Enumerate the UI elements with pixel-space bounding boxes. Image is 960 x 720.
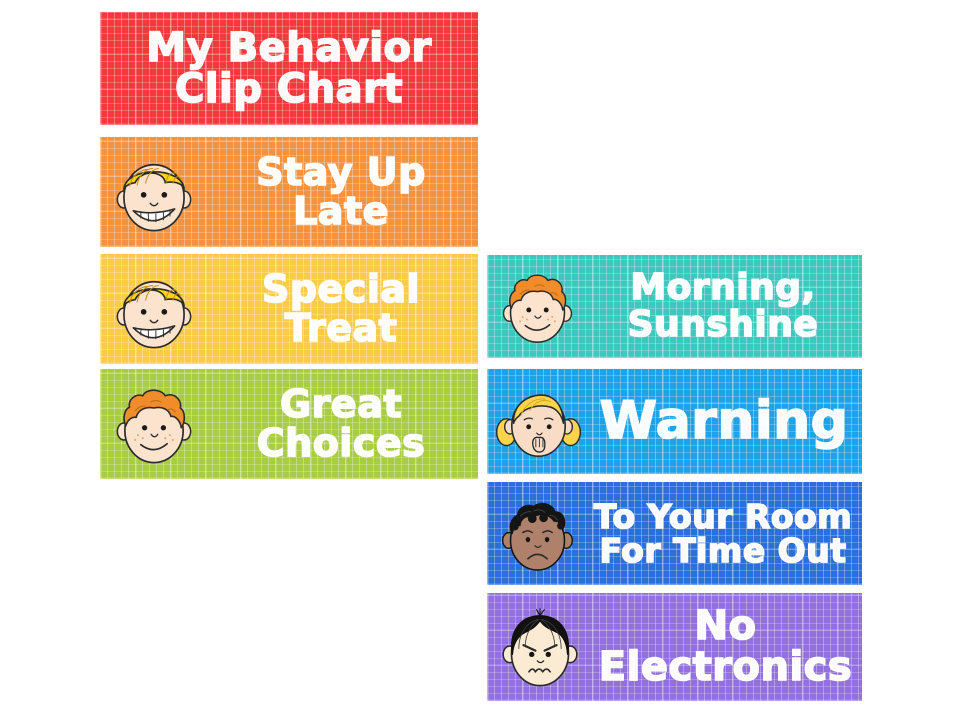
special-treat-card-label: SpecialTreat [204, 270, 478, 348]
time-out-card[interactable]: To Your RoomFor Time Out [487, 482, 862, 585]
dark-haired-boy-sad-face [491, 490, 584, 577]
special-treat-card-line-2: Treat [285, 309, 398, 348]
behavior-clip-chart: My BehaviorClip Chart Stay UpLate Specia… [0, 0, 960, 720]
great-choices-card-label: GreatChoices [204, 385, 478, 463]
stay-up-late-card-label: Stay UpLate [204, 153, 478, 231]
morning-sunshine-card-line-1: Morning, [630, 270, 815, 307]
no-electronics-card[interactable]: NoElectronics [487, 593, 862, 701]
warning-card[interactable]: Warning [487, 369, 862, 474]
morning-sunshine-card[interactable]: Morning,Sunshine [487, 255, 862, 358]
warning-card-line-1: Warning [600, 395, 849, 448]
title-card-line-1: My Behavior [146, 28, 431, 69]
special-treat-card[interactable]: SpecialTreat [100, 254, 478, 364]
blonde-boy-grinning-face [104, 145, 204, 239]
great-choices-card-line-1: Great [280, 385, 402, 424]
morning-sunshine-card-line-2: Sunshine [628, 307, 819, 344]
no-electronics-card-line-2: Electronics [599, 647, 852, 688]
title-card-line-2: Clip Chart [175, 69, 403, 110]
stay-up-late-card-line-2: Late [293, 192, 389, 231]
black-haired-child-angry-face [491, 601, 589, 693]
great-choices-card-line-2: Choices [257, 424, 426, 463]
no-electronics-card-line-1: No [695, 606, 757, 647]
no-electronics-card-label: NoElectronics [589, 606, 862, 688]
blonde-boy-grinning-face [104, 262, 204, 356]
warning-card-label: Warning [586, 395, 862, 448]
stay-up-late-card-line-1: Stay Up [256, 153, 426, 192]
special-treat-card-line-1: Special [262, 270, 420, 309]
time-out-card-label: To Your RoomFor Time Out [584, 500, 862, 567]
title-card[interactable]: My BehaviorClip Chart [100, 12, 478, 125]
stay-up-late-card[interactable]: Stay UpLate [100, 137, 478, 247]
morning-sunshine-card-label: Morning,Sunshine [584, 270, 862, 343]
time-out-card-line-1: To Your Room [594, 500, 852, 534]
time-out-card-line-2: For Time Out [599, 534, 846, 568]
redhead-boy-smiling-face [491, 263, 584, 350]
redhead-boy-smiling-face [104, 377, 204, 471]
blonde-girl-worried-face [491, 377, 586, 466]
great-choices-card[interactable]: GreatChoices [100, 369, 478, 479]
title-card-label: My BehaviorClip Chart [100, 28, 478, 110]
